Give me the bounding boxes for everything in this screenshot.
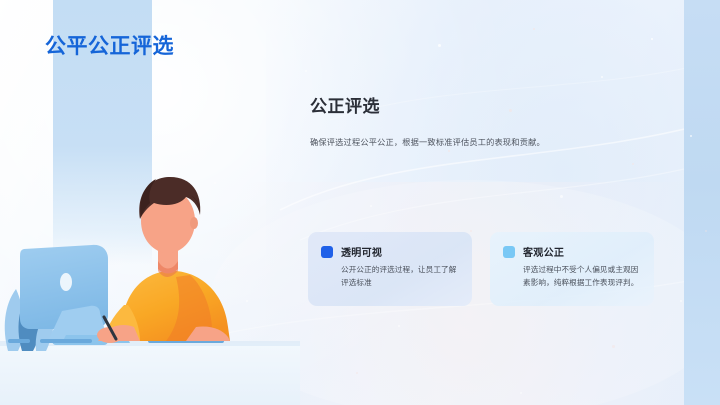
square-dot-icon — [503, 246, 515, 258]
person-ear — [190, 217, 198, 229]
background-wash-right — [266, 0, 720, 405]
feature-card[interactable]: 透明可视 公开公正的评选过程，让员工了解评选标准 — [308, 232, 472, 306]
desk-accent-b — [40, 339, 92, 343]
feature-card-text: 评选过程中不受个人偏见或主观因素影响，纯粹根据工作表现评判。 — [523, 264, 641, 289]
main-heading: 公正评选 — [310, 92, 650, 117]
square-dot-icon — [321, 246, 333, 258]
feature-card[interactable]: 客观公正 评选过程中不受个人偏见或主观因素影响，纯粹根据工作表现评判。 — [490, 232, 654, 306]
page-title: 公平公正评选 — [45, 30, 174, 60]
feature-card-title: 客观公正 — [523, 244, 641, 259]
main-subheading: 确保评选过程公平公正，根据一致标准评估员工的表现和贡献。 — [310, 136, 650, 149]
slide-root: 公平公正评选 公正评选 确保评选过程公平公正，根据一致标准评估员工的表现和贡献。… — [0, 0, 720, 405]
headline-block: 公正评选 确保评选过程公平公正，根据一致标准评估员工的表现和贡献。 — [310, 92, 650, 149]
desk-accent-a — [8, 339, 30, 343]
decorative-band-right — [684, 0, 720, 405]
feature-card-text: 公开公正的评选过程，让员工了解评选标准 — [341, 264, 459, 289]
feature-card-title: 透明可视 — [341, 244, 459, 259]
feature-card-body: 客观公正 评选过程中不受个人偏见或主观因素影响，纯粹根据工作表现评判。 — [523, 244, 641, 289]
desk-surface — [0, 343, 300, 405]
person-at-computer-illustration — [0, 165, 300, 405]
feature-card-body: 透明可视 公开公正的评选过程，让员工了解评选标准 — [341, 244, 459, 289]
feature-card-list: 透明可视 公开公正的评选过程，让员工了解评选标准 客观公正 评选过程中不受个人偏… — [308, 232, 654, 306]
monitor-logo — [60, 273, 72, 291]
